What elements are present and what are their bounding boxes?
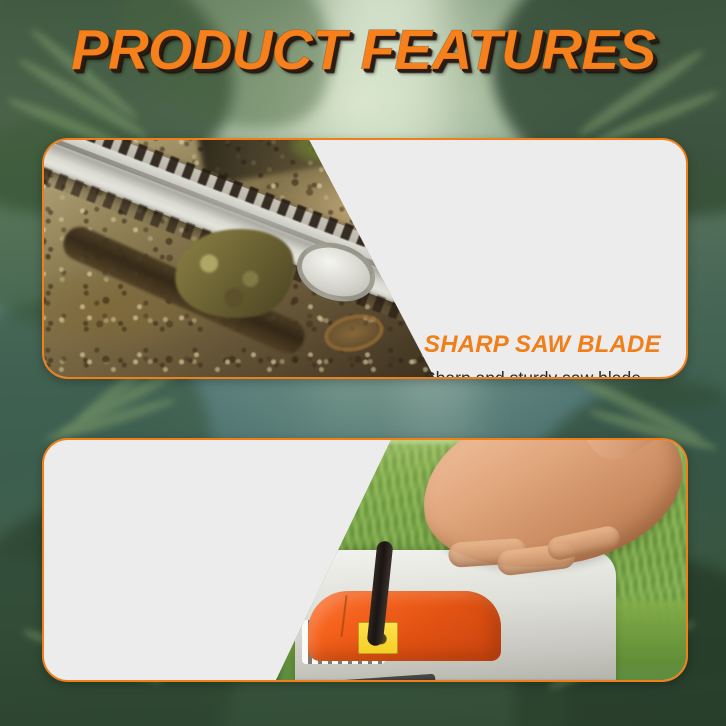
feature-image-saw-blade: [44, 140, 434, 377]
card-inner: EASY TO ACTIVATE HANDLE Easy to activate…: [44, 440, 686, 680]
feature-image-activate-handle: [276, 440, 686, 680]
chainsaw-bar: [282, 673, 437, 680]
product-features-infographic: PRODUCT FEATURES: [0, 0, 726, 726]
garden-scene: [276, 440, 686, 680]
operator-forearm: [563, 440, 686, 470]
chainsaw-body: [295, 550, 616, 680]
cowl-seam: [340, 595, 347, 637]
feature-body-1: Sharp and sturdy saw blade, suitable for…: [424, 368, 688, 379]
log-ground-texture: [44, 140, 434, 377]
card-inner: SHARP SAW BLADE Sharp and sturdy saw bla…: [44, 140, 686, 377]
feature-heading-1: SHARP SAW BLADE: [424, 332, 688, 359]
feature-text-block-1: SHARP SAW BLADE Sharp and sturdy saw bla…: [424, 332, 688, 379]
feature-card-easy-to-activate-handle: EASY TO ACTIVATE HANDLE Easy to activate…: [42, 438, 688, 682]
feature-card-sharp-saw-blade: SHARP SAW BLADE Sharp and sturdy saw bla…: [42, 138, 688, 379]
chainsaw-orange-cowl: [308, 591, 500, 661]
page-title: PRODUCT FEATURES: [0, 22, 726, 79]
